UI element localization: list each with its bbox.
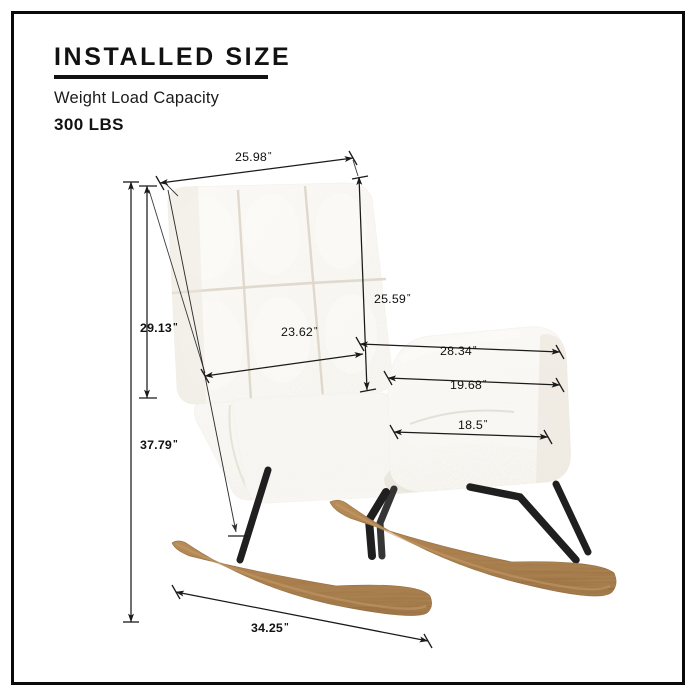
size-diagram-page: INSTALLED SIZE Weight Load Capacity 300 … [0,0,700,700]
dimension-label-seat-depth: 19.68" [450,378,487,392]
dimension-label-overall-depth: 28.34" [440,344,477,358]
dimension-label-seat-back-width: 23.62" [281,325,318,339]
dimension-label-seat-width: 18.5" [458,418,488,432]
dimline-total-height [123,182,139,622]
dimension-label-overall-height: 29.13" [140,321,178,335]
rocker-left [172,541,432,616]
dimension-label-back-height: 25.59" [374,292,411,306]
chair-drawing-stage: 25.98" 25.59" 23.62" 29.13" 37.79" 28.34… [0,0,700,700]
chair-illustration [0,0,700,700]
dimension-label-top-width: 25.98" [235,150,272,164]
chair-body [168,183,571,503]
dimension-label-base-length: 34.25" [251,621,289,635]
chair-side-panel [232,392,397,503]
dimension-label-total-height: 37.79" [140,438,178,452]
